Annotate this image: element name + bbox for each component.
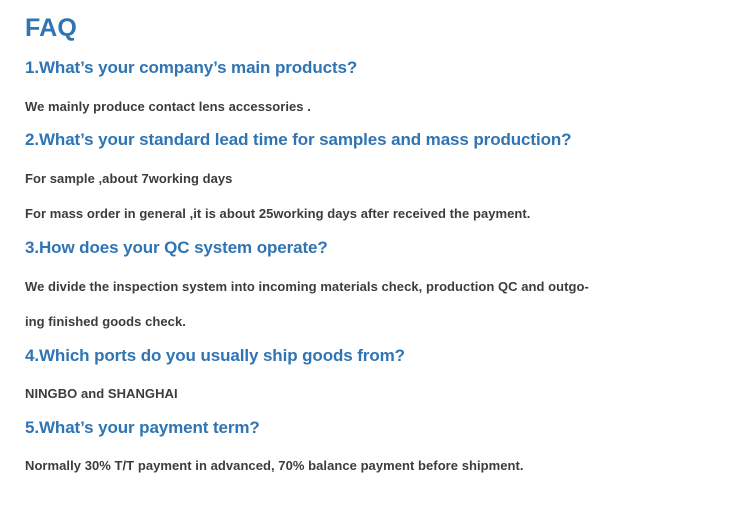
- faq-answer-1-line-1: We mainly produce contact lens accessori…: [25, 99, 311, 115]
- faq-question-3: 3.How does your QC system operate?: [25, 238, 328, 258]
- faq-answer-5-line-1: Normally 30% T/T payment in advanced, 70…: [25, 458, 524, 474]
- faq-page: FAQ 1.What’s your company’s main product…: [0, 0, 750, 507]
- page-title: FAQ: [25, 16, 77, 41]
- faq-question-1: 1.What’s your company’s main products?: [25, 58, 357, 78]
- faq-answer-2-line-2: For mass order in general ,it is about 2…: [25, 206, 530, 222]
- faq-question-2: 2.What’s your standard lead time for sam…: [25, 130, 571, 150]
- faq-answer-4-line-1: NINGBO and SHANGHAI: [25, 386, 178, 402]
- faq-answer-3-line-1: We divide the inspection system into inc…: [25, 279, 589, 295]
- faq-answer-2-line-1: For sample ,about 7working days: [25, 171, 232, 187]
- faq-question-5: 5.What’s your payment term?: [25, 418, 260, 438]
- faq-question-4: 4.Which ports do you usually ship goods …: [25, 346, 405, 366]
- faq-answer-3-line-2: ing finished goods check.: [25, 314, 186, 330]
